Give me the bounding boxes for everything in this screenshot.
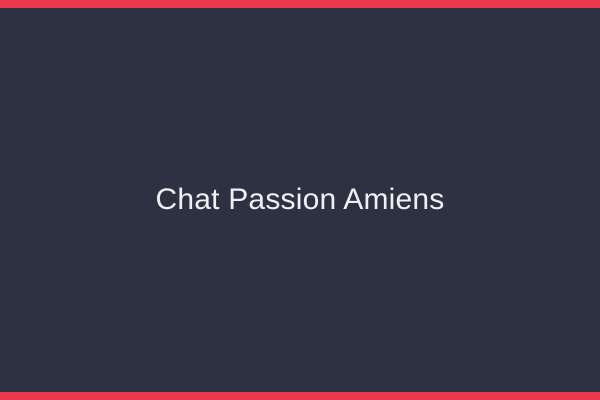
placeholder-title: Chat Passion Amiens <box>156 182 445 218</box>
top-accent-bar <box>0 0 600 8</box>
bottom-accent-bar <box>0 392 600 400</box>
placeholder-card: Chat Passion Amiens <box>0 0 600 400</box>
upper-spacer <box>0 8 600 182</box>
lower-spacer <box>0 218 600 392</box>
title-stage: Chat Passion Amiens <box>0 182 600 218</box>
